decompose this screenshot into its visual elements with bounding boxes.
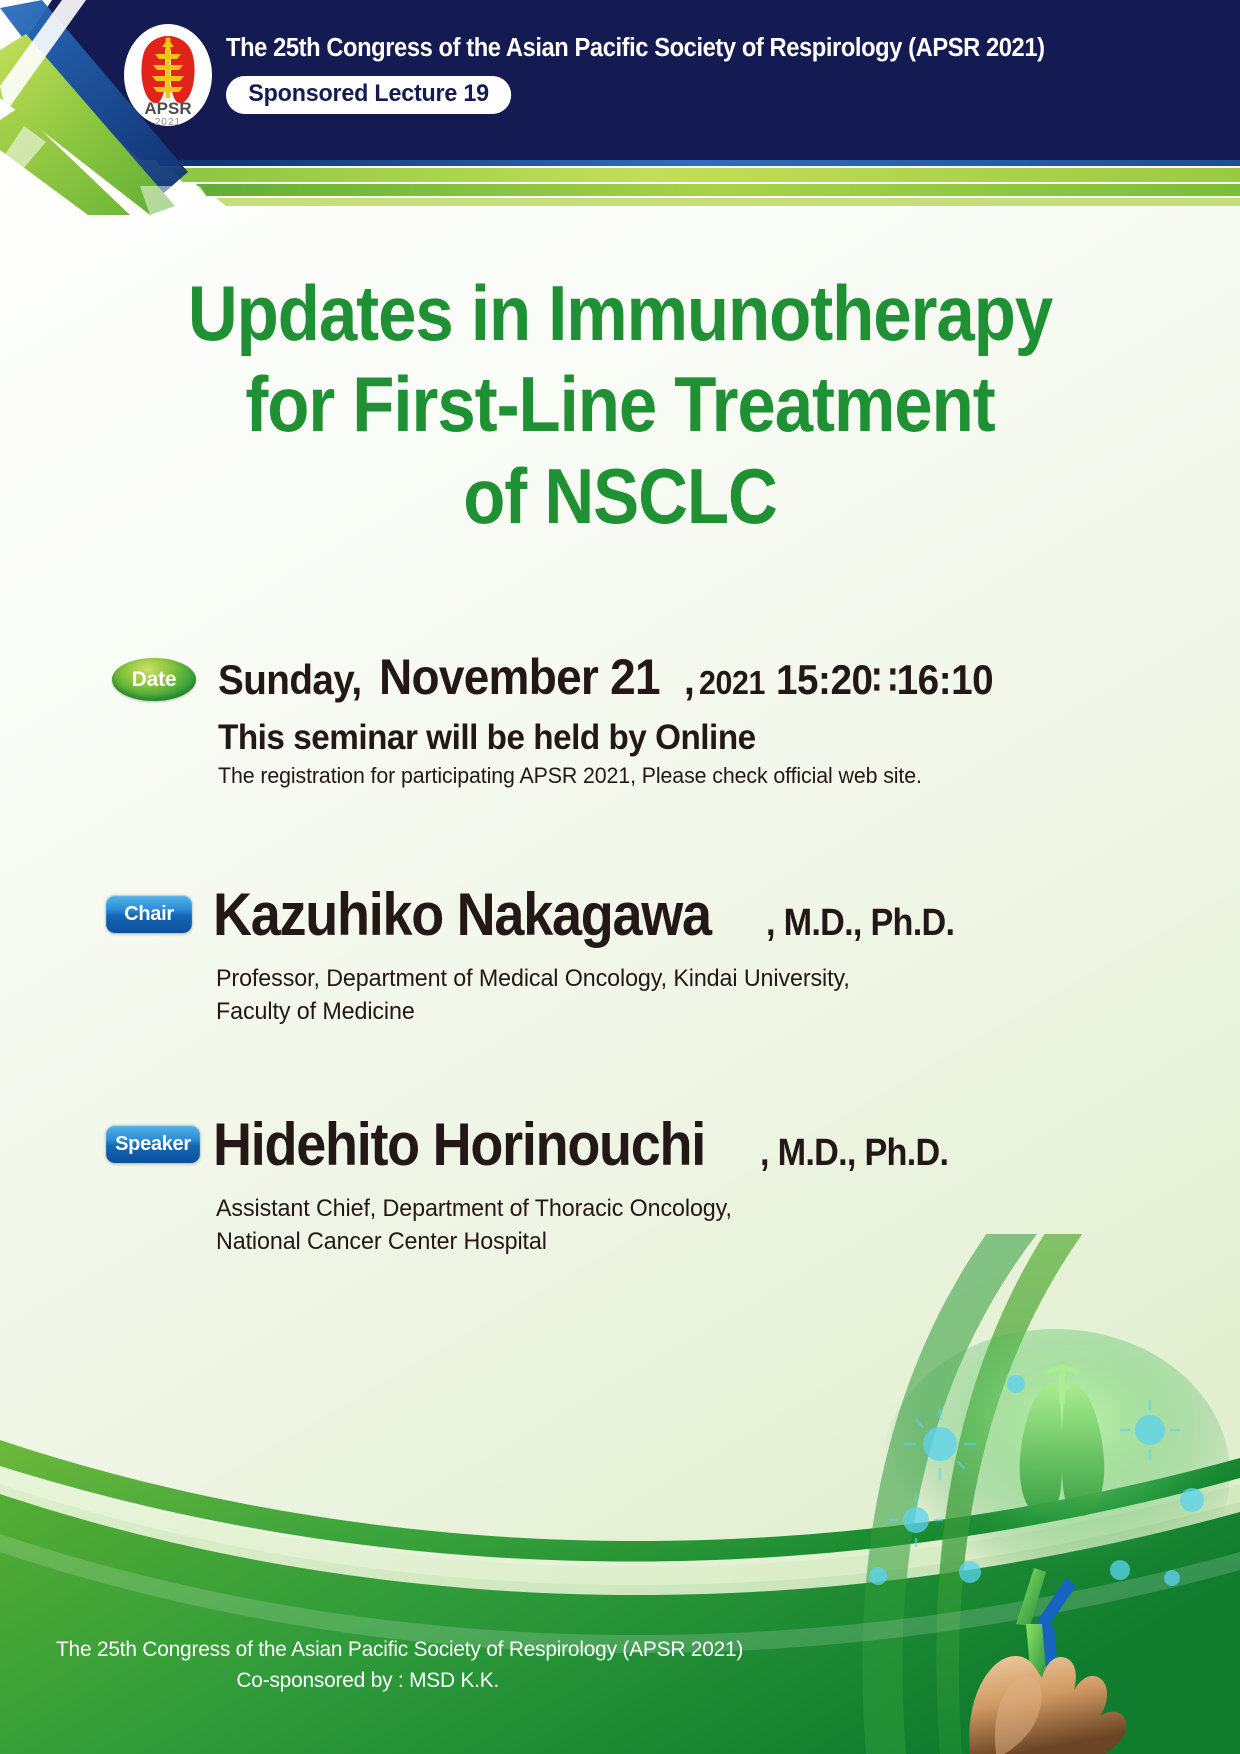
footer-line-1: The 25th Congress of the Asian Pacific S… bbox=[56, 1637, 743, 1661]
date-badge: Date bbox=[112, 658, 196, 701]
apsr-logo-svg: APSR 2021 bbox=[122, 22, 214, 132]
header-stripe-svg bbox=[0, 152, 1240, 210]
hand-graphic bbox=[969, 1656, 1126, 1754]
date-time-range: 15:20∷16:10 bbox=[776, 655, 993, 704]
speaker-role-badge: Speaker bbox=[106, 1125, 200, 1163]
title-line-3: of NSCLC bbox=[71, 451, 1168, 542]
apsr-logo-year: 2021 bbox=[155, 117, 181, 128]
title-line-2: for First-Line Treatment bbox=[71, 359, 1168, 450]
speaker-affiliation-line-2: National Cancer Center Hospital bbox=[216, 1225, 732, 1258]
footer-credits: The 25th Congress of the Asian Pacific S… bbox=[56, 1634, 743, 1696]
registration-notice: The registration for participating APSR … bbox=[218, 763, 922, 789]
virus-spikes bbox=[889, 1400, 1180, 1547]
virus-particles bbox=[869, 1375, 1204, 1586]
header-stripe-band bbox=[0, 152, 1240, 210]
chair-role-badge: Chair bbox=[106, 895, 192, 933]
header-text-group: The 25th Congress of the Asian Pacific S… bbox=[226, 34, 1106, 114]
page-title: Updates in Immunotherapy for First-Line … bbox=[0, 268, 1240, 542]
speaker-degrees: , M.D., Ph.D. bbox=[760, 1132, 948, 1175]
date-comma: , bbox=[684, 656, 694, 704]
chair-name: Kazuhiko Nakagawa bbox=[213, 880, 711, 949]
footer-line-2: Co-sponsored by : MSD K.K. bbox=[56, 1665, 743, 1696]
speaker-name-line: Hidehito Horinouchi, M.D., Ph.D. bbox=[213, 1110, 969, 1179]
chair-affiliation: Professor, Department of Medical Oncolog… bbox=[216, 962, 850, 1028]
date-weekday: Sunday, bbox=[218, 656, 362, 704]
chair-affiliation-line-1: Professor, Department of Medical Oncolog… bbox=[216, 962, 850, 995]
chair-name-line: Kazuhiko Nakagawa, M.D., Ph.D. bbox=[213, 880, 975, 949]
speaker-name: Hidehito Horinouchi bbox=[213, 1110, 705, 1179]
hand-lungs-illustration bbox=[820, 1324, 1240, 1754]
chair-degrees: , M.D., Ph.D. bbox=[766, 902, 954, 945]
lungs-graphic bbox=[1020, 1364, 1105, 1516]
sponsored-lecture-badge: Sponsored Lecture 19 bbox=[226, 76, 511, 114]
poster-root: APSR 2021 The 25th Congress of the Asian… bbox=[0, 0, 1240, 1754]
apsr-logo-text: APSR bbox=[144, 99, 191, 118]
speaker-affiliation-line-1: Assistant Chief, Department of Thoracic … bbox=[216, 1192, 732, 1225]
date-month-day: November 21 bbox=[379, 648, 660, 706]
congress-title: The 25th Congress of the Asian Pacific S… bbox=[226, 34, 1045, 63]
hand-lungs-svg bbox=[820, 1324, 1240, 1754]
date-line: Sunday, November 21, 2021 15:20∷16:10 bbox=[218, 648, 1012, 706]
antibody-graphic bbox=[1016, 1568, 1076, 1692]
online-notice: This seminar will be held by Online bbox=[218, 718, 756, 758]
chair-affiliation-line-2: Faculty of Medicine bbox=[216, 995, 850, 1028]
speaker-affiliation: Assistant Chief, Department of Thoracic … bbox=[216, 1192, 732, 1258]
date-year: 2021 bbox=[699, 664, 765, 702]
title-line-1: Updates in Immunotherapy bbox=[71, 268, 1168, 359]
apsr-logo: APSR 2021 bbox=[122, 22, 214, 132]
